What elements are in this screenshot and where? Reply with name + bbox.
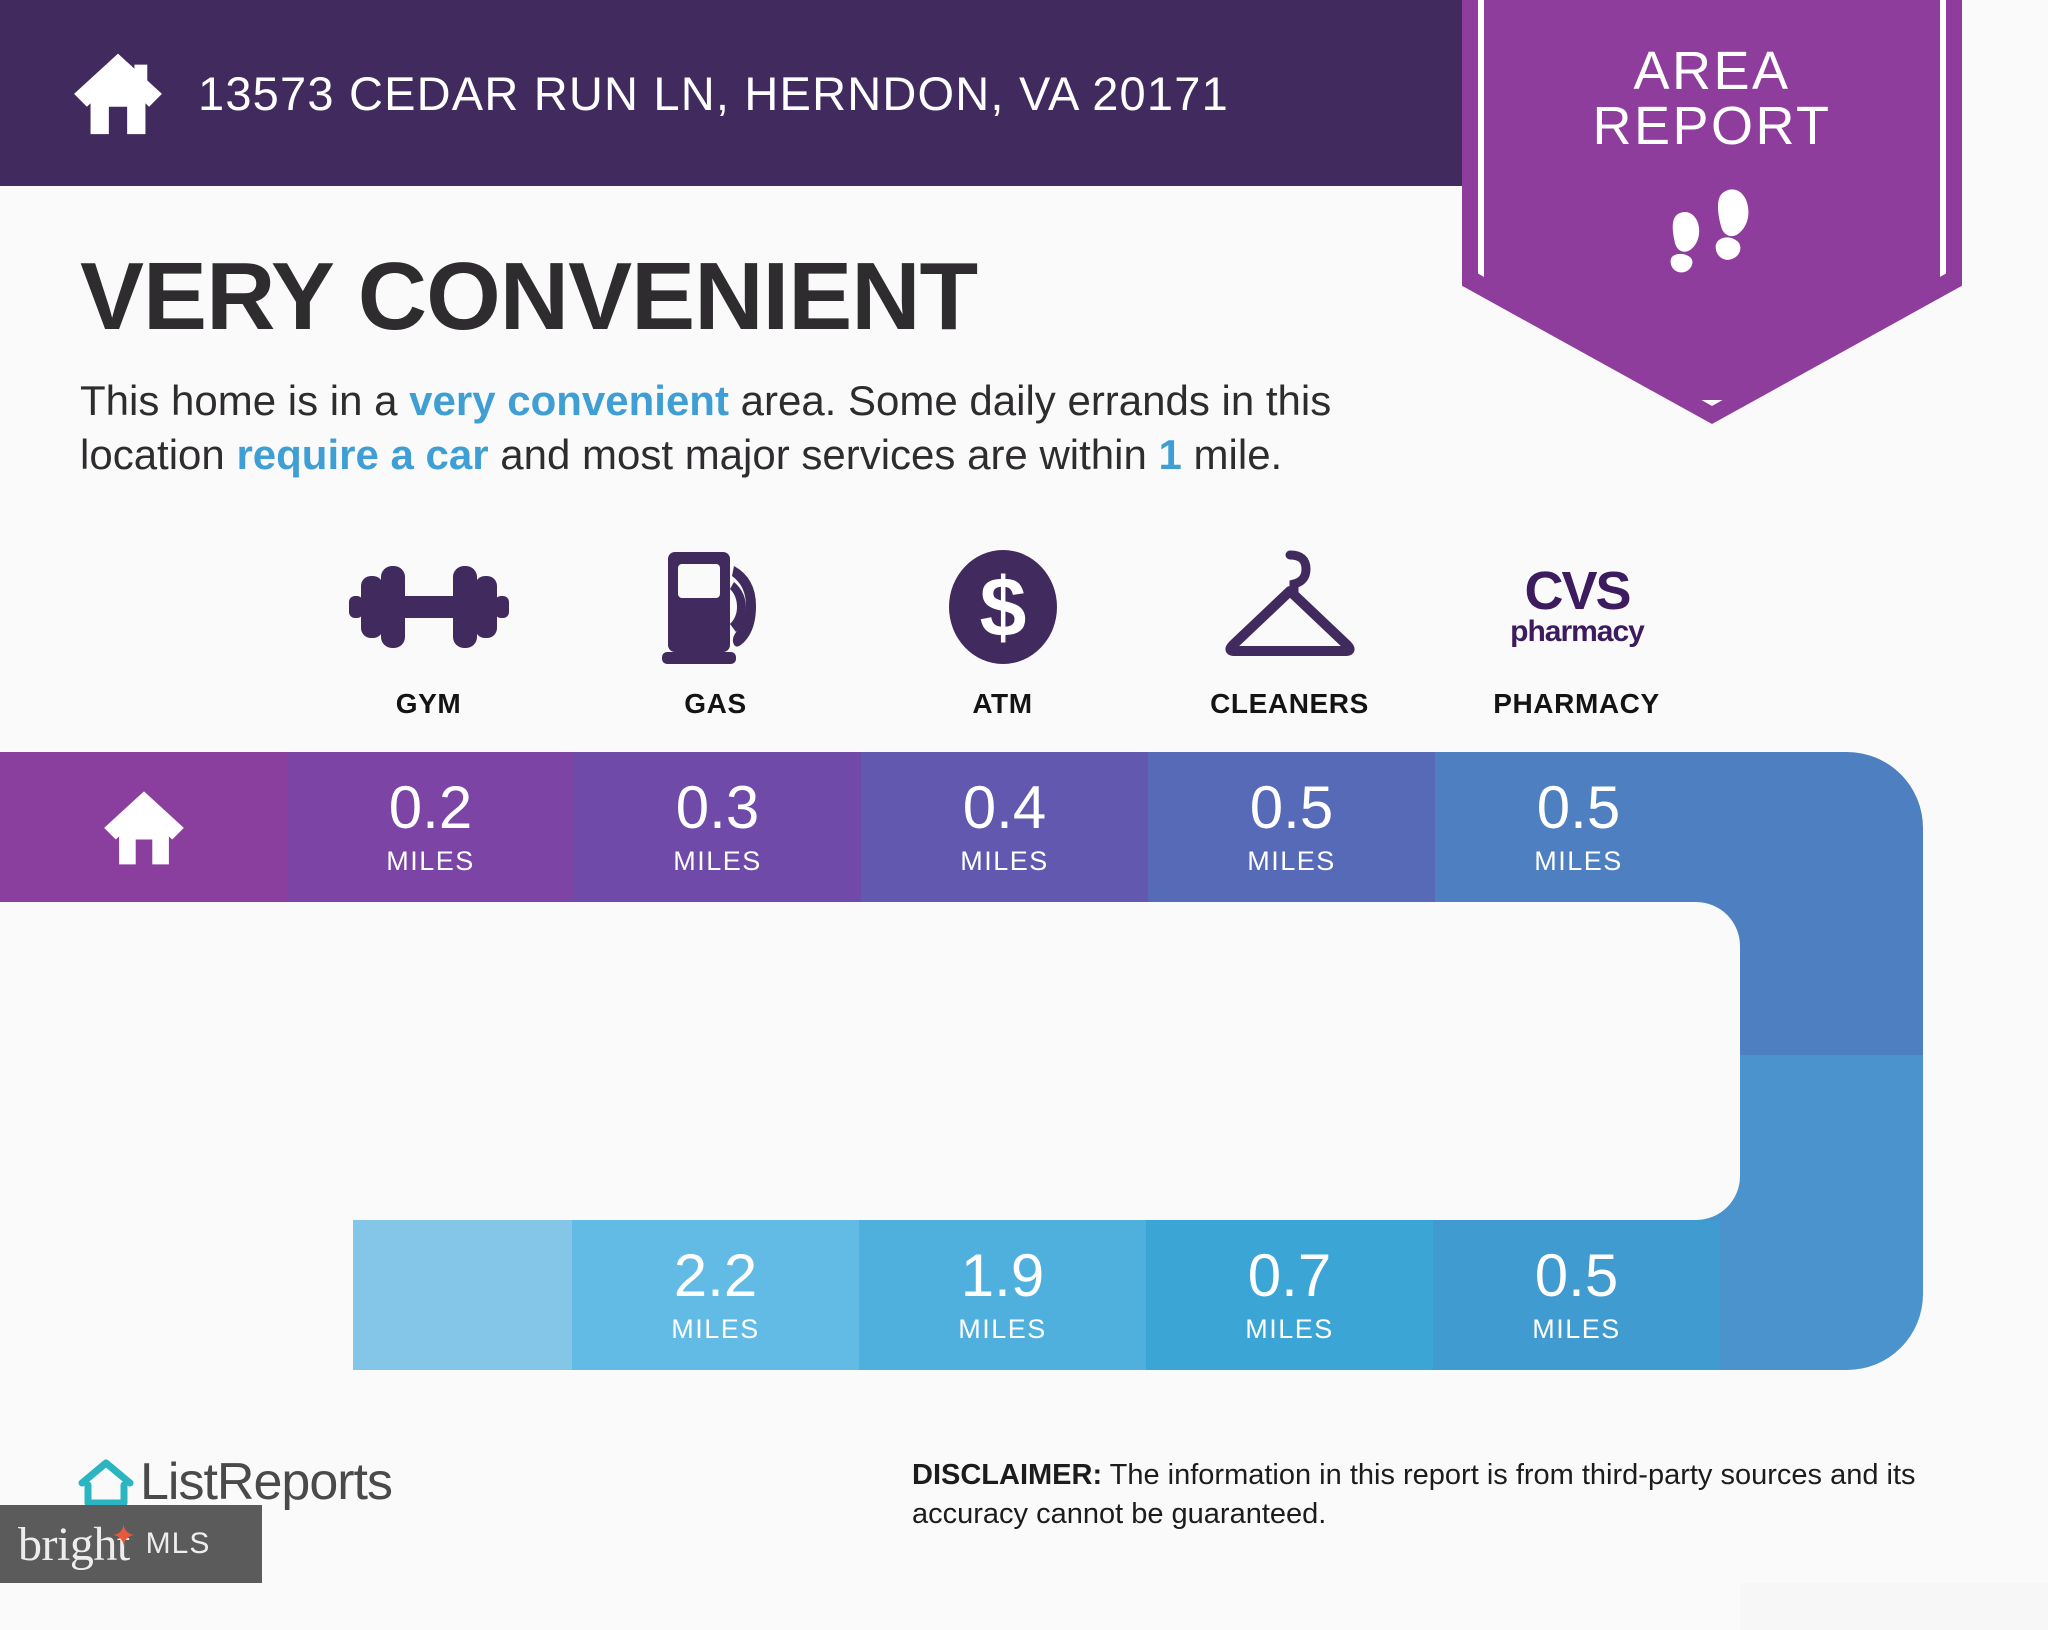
listreports-wordmark: ListReports bbox=[140, 1452, 392, 1512]
distance-segment-gym: 0.2 MILES bbox=[287, 752, 574, 902]
distance-segment-movie-theater: 2.2 MILES bbox=[572, 1220, 859, 1370]
distance-bar-row-2: 2.2 MILES 1.9 MILES 0.7 MILES 0.5 MILES bbox=[353, 1220, 1720, 1370]
distance-bar-row-1: 0.2 MILES 0.3 MILES 0.4 MILES 0.5 MILES … bbox=[0, 752, 1722, 902]
distance-unit: MILES bbox=[960, 846, 1049, 877]
spark-icon: ✦ bbox=[111, 1519, 136, 1554]
ribbon-spacer bbox=[353, 1220, 572, 1370]
distance-segment-medical: 1.9 MILES bbox=[859, 1220, 1146, 1370]
mls-label: MLS bbox=[146, 1527, 211, 1561]
distance-unit: MILES bbox=[673, 846, 762, 877]
house-icon bbox=[102, 788, 186, 866]
distance-unit: MILES bbox=[671, 1314, 760, 1345]
distance-unit: MILES bbox=[1532, 1314, 1621, 1345]
listreports-logo: ListReports bbox=[78, 1452, 392, 1512]
distance-segment-cleaners: 0.5 MILES bbox=[1148, 752, 1435, 902]
distance-value: 2.2 bbox=[674, 1246, 757, 1306]
distance-segment-coffee: 0.7 MILES bbox=[1146, 1220, 1433, 1370]
middle-mask-card bbox=[0, 902, 1740, 1220]
distance-value: 1.9 bbox=[961, 1246, 1044, 1306]
distance-unit: MILES bbox=[386, 846, 475, 877]
distance-value: 0.3 bbox=[676, 778, 759, 838]
distance-segment-groceries: 0.5 MILES bbox=[1433, 1220, 1720, 1370]
bright-wordmark: bright✦ bbox=[18, 1517, 130, 1572]
distance-segment-pharmacy: 0.5 MILES bbox=[1435, 752, 1722, 902]
distance-value: 0.5 bbox=[1535, 1246, 1618, 1306]
distance-value: 0.5 bbox=[1537, 778, 1620, 838]
distance-unit: MILES bbox=[958, 1314, 1047, 1345]
distance-value: 0.5 bbox=[1250, 778, 1333, 838]
distance-ribbon: 0.2 MILES 0.3 MILES 0.4 MILES 0.5 MILES … bbox=[0, 0, 2048, 1583]
distance-unit: MILES bbox=[1247, 846, 1336, 877]
distance-segment-gas: 0.3 MILES bbox=[574, 752, 861, 902]
bright-mls-watermark: bright✦ MLS bbox=[0, 1505, 262, 1583]
distance-value: 0.2 bbox=[389, 778, 472, 838]
house-outline-icon bbox=[78, 1455, 134, 1509]
disclaimer-label: DISCLAIMER: bbox=[912, 1459, 1102, 1491]
distance-unit: MILES bbox=[1245, 1314, 1334, 1345]
distance-segment-atm: 0.4 MILES bbox=[861, 752, 1148, 902]
distance-unit: MILES bbox=[1534, 846, 1623, 877]
home-marker-segment bbox=[0, 752, 287, 902]
distance-value: 0.7 bbox=[1248, 1246, 1331, 1306]
distance-value: 0.4 bbox=[963, 778, 1046, 838]
disclaimer: DISCLAIMER: The information in this repo… bbox=[912, 1456, 1982, 1533]
